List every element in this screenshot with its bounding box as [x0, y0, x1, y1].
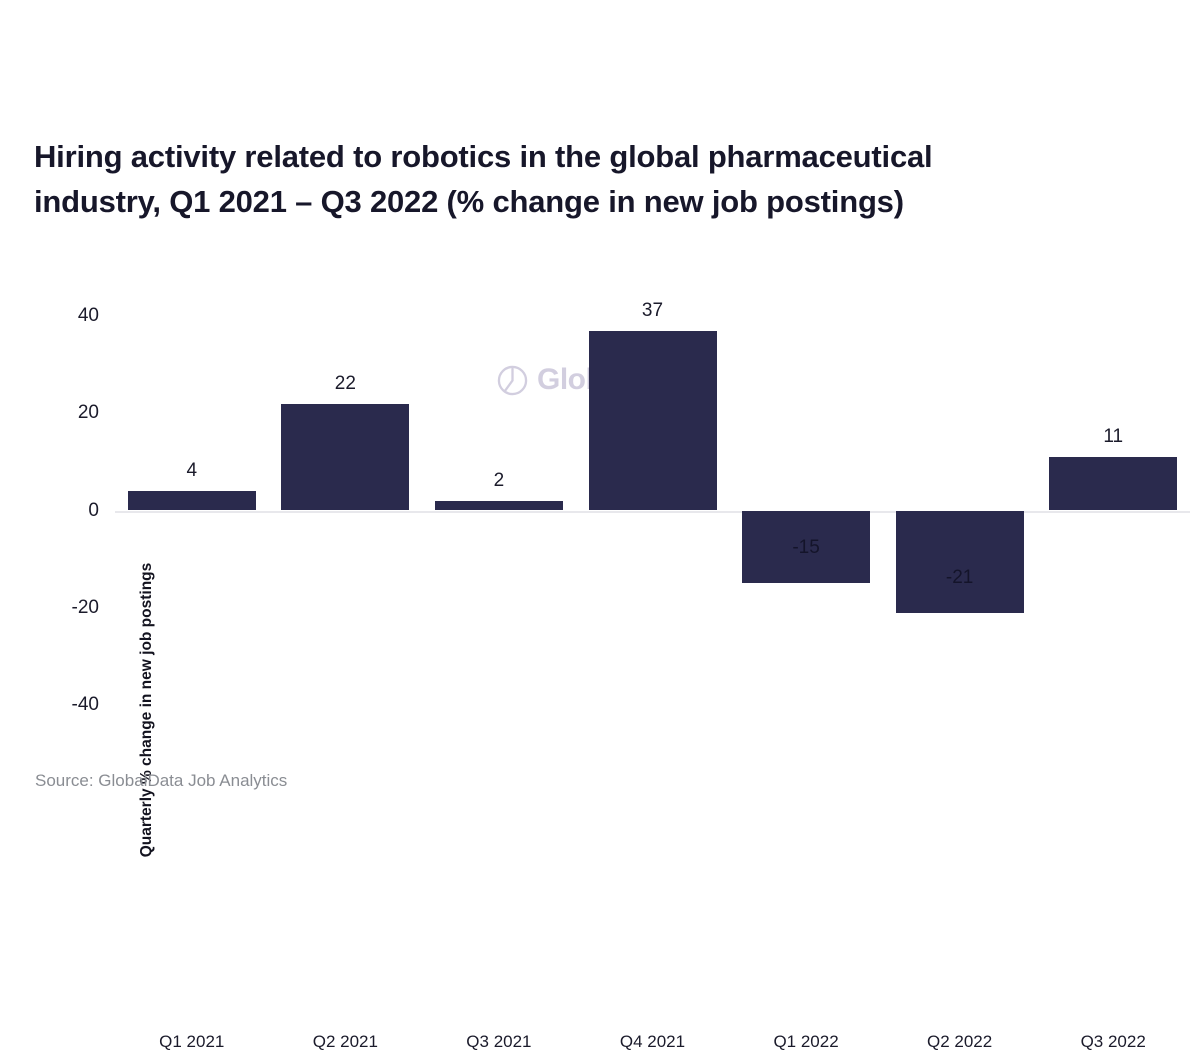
- x-tick-label: Q2 2021: [269, 1032, 423, 1052]
- y-tick-label: -40: [3, 694, 99, 716]
- y-tick-label: -20: [3, 597, 99, 619]
- x-tick-label: Q2 2022: [883, 1032, 1037, 1052]
- bar-value-label: -15: [742, 537, 870, 559]
- y-tick-label: 40: [3, 305, 99, 327]
- zero-baseline: [115, 511, 1190, 513]
- bar[interactable]: [1049, 457, 1177, 510]
- page-title: Hiring activity related to robotics in t…: [34, 134, 1064, 224]
- bar[interactable]: [896, 511, 1024, 613]
- x-tick-label: Q3 2021: [422, 1032, 576, 1052]
- bar[interactable]: [281, 404, 409, 511]
- bar[interactable]: [589, 331, 717, 511]
- bar-value-label: 4: [128, 460, 256, 482]
- plot-area: Quarterly % change in new job postings 4…: [115, 316, 1190, 705]
- bar-value-label: 11: [1049, 426, 1177, 448]
- bar-value-label: -21: [896, 567, 1024, 589]
- x-tick-label: Q1 2022: [729, 1032, 883, 1052]
- y-tick-label: 0: [3, 500, 99, 522]
- bar-value-label: 37: [589, 300, 717, 322]
- source-note: Source: GlobalData Job Analytics: [35, 771, 287, 791]
- bar[interactable]: [128, 491, 256, 510]
- x-tick-label: Q3 2022: [1036, 1032, 1190, 1052]
- bar[interactable]: [435, 501, 563, 511]
- y-axis-title: Quarterly % change in new job postings: [138, 430, 156, 990]
- bar-value-label: 2: [435, 470, 563, 492]
- chart-page: Hiring activity related to robotics in t…: [0, 0, 1204, 903]
- x-tick-label: Q4 2021: [576, 1032, 730, 1052]
- x-tick-label: Q1 2021: [115, 1032, 269, 1052]
- bar-value-label: 22: [281, 373, 409, 395]
- y-tick-label: 20: [3, 402, 99, 424]
